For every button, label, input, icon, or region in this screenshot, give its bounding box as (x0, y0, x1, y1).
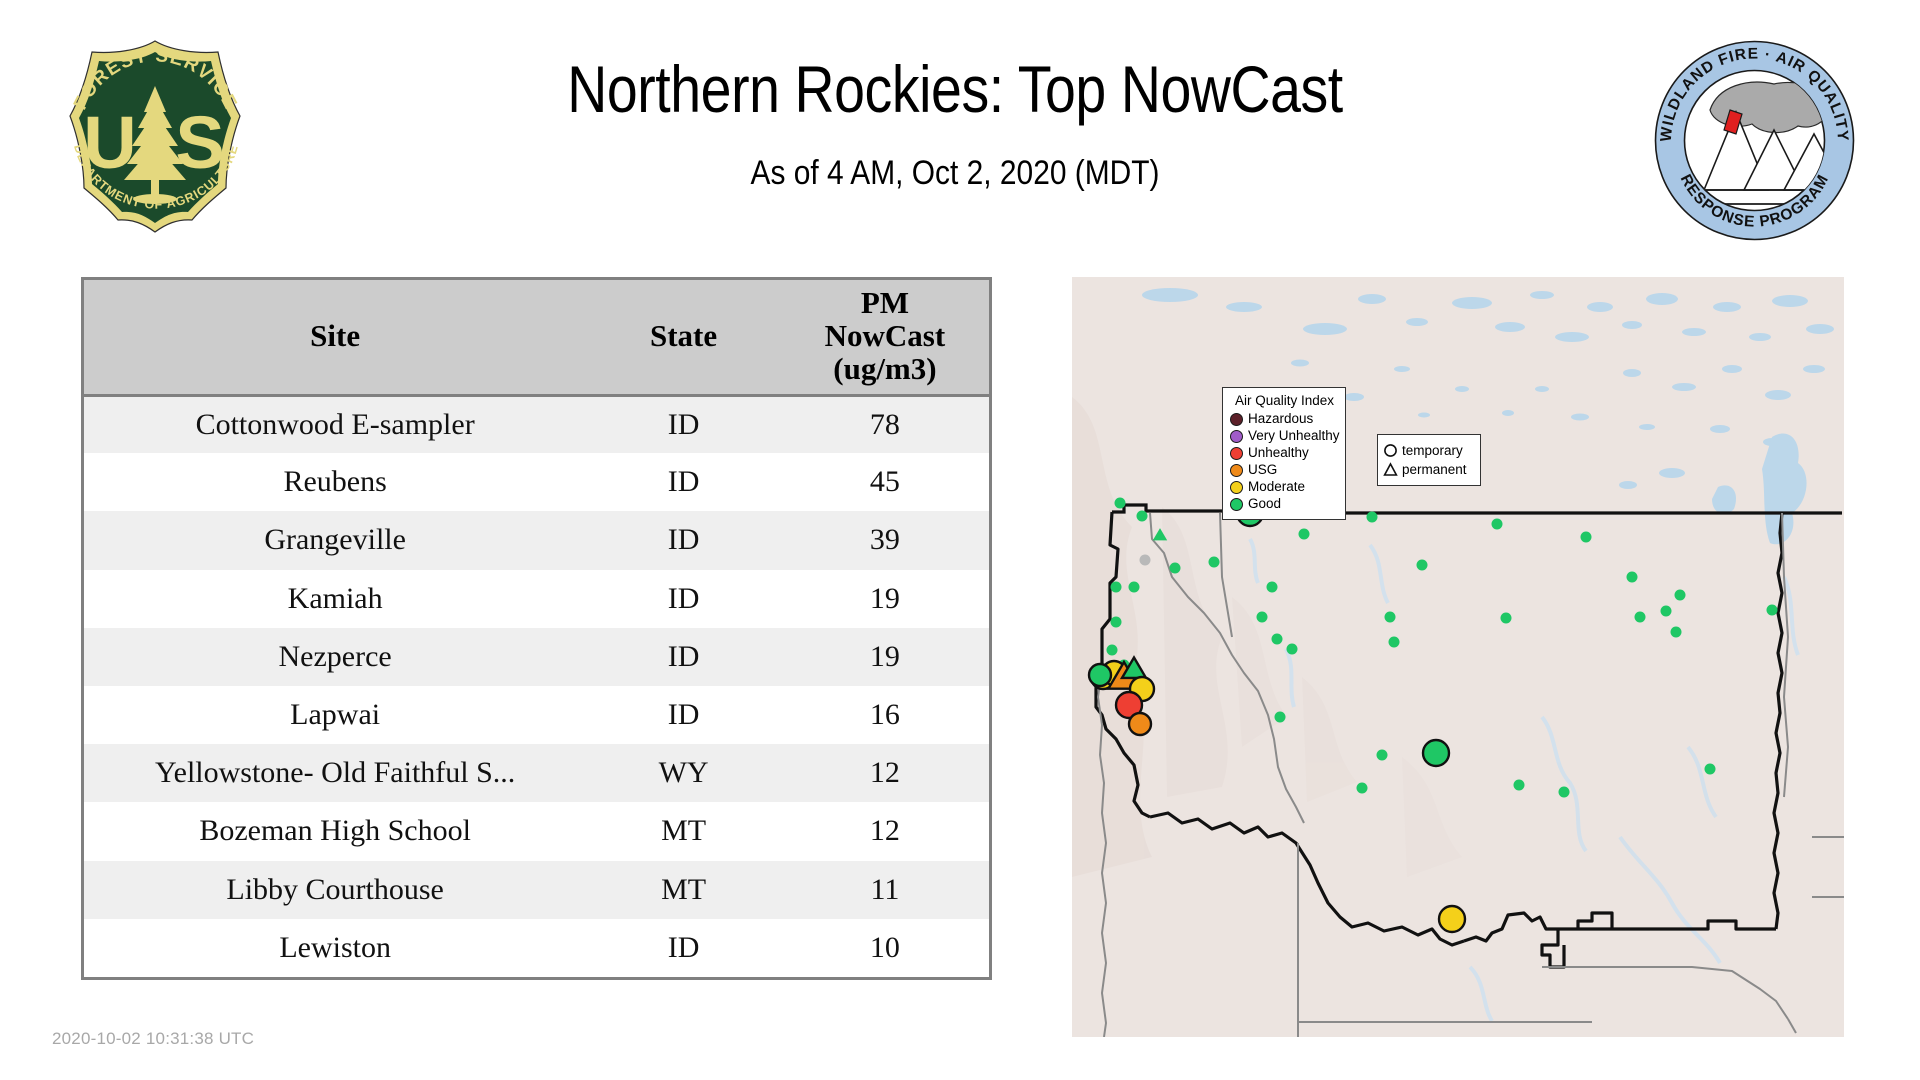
table-header: Site State PM NowCast (ug/m3) (84, 280, 989, 395)
site-cell: Yellowstone- Old Faithful S... (84, 744, 586, 802)
site-cell: Lewiston (84, 919, 586, 977)
column-header-state: State (586, 280, 781, 395)
site-cell: Cottonwood E-sampler (84, 395, 586, 453)
symbol-legend-label-temporary: temporary (1402, 444, 1463, 458)
aqi-legend-label: Very Unhealthy (1248, 429, 1340, 443)
monitor-marker-temporary[interactable] (1671, 627, 1682, 638)
monitor-marker-temporary[interactable] (1385, 612, 1396, 623)
air-quality-map[interactable]: Air Quality Index HazardousVery Unhealth… (1072, 277, 1844, 1037)
monitor-marker-temporary[interactable] (1107, 645, 1118, 656)
monitor-marker-temporary[interactable] (1439, 906, 1465, 932)
aqi-legend-label: Hazardous (1248, 412, 1313, 426)
monitor-marker-temporary[interactable] (1257, 612, 1268, 623)
monitor-marker-temporary[interactable] (1514, 780, 1525, 791)
aqi-legend-swatch (1230, 498, 1243, 511)
title-block: Northern Rockies: Top NowCast As of 4 AM… (290, 55, 1620, 193)
triangle-marker-icon (1383, 462, 1398, 477)
monitor-marker-temporary[interactable] (1501, 613, 1512, 624)
pm-header-line-2: NowCast (781, 320, 989, 353)
monitor-marker-temporary[interactable] (1111, 582, 1122, 593)
aqi-legend-label: USG (1248, 463, 1277, 477)
table-row[interactable]: Cottonwood E-samplerID78 (84, 395, 989, 453)
monitor-marker-temporary[interactable] (1705, 764, 1716, 775)
monitor-marker-temporary[interactable] (1635, 612, 1646, 623)
state-cell: ID (586, 395, 781, 453)
pm-cell: 19 (781, 570, 989, 628)
pm-cell: 16 (781, 686, 989, 744)
aqi-legend: Air Quality Index HazardousVery Unhealth… (1222, 387, 1346, 520)
aqi-legend-item: Moderate (1230, 479, 1339, 496)
table-row[interactable]: LewistonID10 (84, 919, 989, 977)
monitor-marker-temporary[interactable] (1675, 590, 1686, 601)
pm-cell: 19 (781, 628, 989, 686)
monitor-marker-temporary[interactable] (1287, 644, 1298, 655)
monitor-marker-temporary[interactable] (1492, 519, 1503, 530)
state-cell: MT (586, 802, 781, 860)
state-cell: ID (586, 686, 781, 744)
aqi-legend-item: Very Unhealthy (1230, 428, 1339, 445)
map-canvas (1072, 277, 1844, 1037)
table-row[interactable]: GrangevilleID39 (84, 511, 989, 569)
monitor-marker-temporary[interactable] (1089, 664, 1111, 686)
aqi-legend-swatch (1230, 430, 1243, 443)
column-header-pm-nowcast: PM NowCast (ug/m3) (781, 280, 989, 395)
monitor-marker-temporary[interactable] (1661, 606, 1672, 617)
aqi-legend-swatch (1230, 447, 1243, 460)
monitor-marker-temporary[interactable] (1140, 555, 1151, 566)
monitor-marker-temporary[interactable] (1581, 532, 1592, 543)
nowcast-table-container: Site State PM NowCast (ug/m3) Cottonwood… (81, 277, 992, 980)
site-cell: Kamiah (84, 570, 586, 628)
pm-cell: 12 (781, 802, 989, 860)
pm-header-line-3: (ug/m3) (781, 353, 989, 386)
state-cell: MT (586, 861, 781, 919)
usfs-forest-service-logo: FOREST SERVICE DEPARTMENT OF AGRICULTURE… (48, 28, 263, 243)
aqi-legend-rows: HazardousVery UnhealthyUnhealthyUSGModer… (1230, 411, 1339, 513)
aqi-legend-label: Moderate (1248, 480, 1305, 494)
pm-cell: 12 (781, 744, 989, 802)
page-title: Northern Rockies: Top NowCast (396, 55, 1513, 124)
site-cell: Grangeville (84, 511, 586, 569)
monitor-marker-temporary[interactable] (1627, 572, 1638, 583)
aqi-legend-item: Good (1230, 496, 1339, 513)
symbol-legend-row-temporary: temporary (1383, 441, 1474, 460)
site-cell: Bozeman High School (84, 802, 586, 860)
monitor-marker-temporary[interactable] (1137, 511, 1148, 522)
monitor-marker-temporary[interactable] (1129, 582, 1140, 593)
monitor-marker-temporary[interactable] (1377, 750, 1388, 761)
column-header-site: Site (84, 280, 586, 395)
state-cell: ID (586, 628, 781, 686)
usfs-letter-u: U (83, 101, 136, 184)
table-row[interactable]: KamiahID19 (84, 570, 989, 628)
wfaqrp-logo: WILDLAND FIRE · AIR QUALITY RESPONSE PRO… (1652, 38, 1857, 243)
monitor-marker-temporary[interactable] (1170, 563, 1181, 574)
pm-cell: 45 (781, 453, 989, 511)
site-cell: Nezperce (84, 628, 586, 686)
page-subtitle: As of 4 AM, Oct 2, 2020 (MDT) (370, 154, 1540, 193)
monitor-marker-temporary[interactable] (1417, 560, 1428, 571)
state-cell: ID (586, 511, 781, 569)
aqi-legend-item: Unhealthy (1230, 445, 1339, 462)
monitor-marker-temporary[interactable] (1209, 557, 1220, 568)
table-row[interactable]: NezperceID19 (84, 628, 989, 686)
monitor-marker-temporary[interactable] (1129, 713, 1151, 735)
monitor-marker-temporary[interactable] (1272, 634, 1283, 645)
table-header-row: Site State PM NowCast (ug/m3) (84, 280, 989, 395)
aqi-legend-swatch (1230, 464, 1243, 477)
aqi-legend-swatch (1230, 481, 1243, 494)
table-body: Cottonwood E-samplerID78ReubensID45Grang… (84, 395, 989, 977)
monitor-marker-temporary[interactable] (1111, 617, 1122, 628)
monitor-marker-temporary[interactable] (1767, 605, 1778, 616)
aqi-legend-label: Unhealthy (1248, 446, 1309, 460)
monitor-marker-temporary[interactable] (1357, 783, 1368, 794)
table-row[interactable]: ReubensID45 (84, 453, 989, 511)
monitor-marker-temporary[interactable] (1115, 498, 1126, 509)
table-row[interactable]: Yellowstone- Old Faithful S...WY12 (84, 744, 989, 802)
site-cell: Lapwai (84, 686, 586, 744)
circle-marker-icon (1383, 443, 1398, 458)
pm-cell: 39 (781, 511, 989, 569)
site-cell: Reubens (84, 453, 586, 511)
site-cell: Libby Courthouse (84, 861, 586, 919)
aqi-legend-item: Hazardous (1230, 411, 1339, 428)
footer-timestamp: 2020-10-02 10:31:38 UTC (52, 1029, 254, 1049)
pm-cell: 78 (781, 395, 989, 453)
aqi-legend-title: Air Quality Index (1230, 393, 1339, 409)
table-row[interactable]: LapwaiID16 (84, 686, 989, 744)
state-cell: ID (586, 570, 781, 628)
nowcast-table: Site State PM NowCast (ug/m3) Cottonwood… (84, 280, 989, 977)
usfs-letter-s: S (175, 101, 224, 184)
monitor-marker-temporary[interactable] (1423, 740, 1449, 766)
state-cell: ID (586, 453, 781, 511)
pm-header-line-1: PM (781, 287, 989, 320)
monitor-marker-temporary[interactable] (1275, 712, 1286, 723)
aqi-legend-swatch (1230, 413, 1243, 426)
table-row[interactable]: Bozeman High SchoolMT12 (84, 802, 989, 860)
slide-canvas: FOREST SERVICE DEPARTMENT OF AGRICULTURE… (0, 0, 1920, 1080)
aqi-legend-label: Good (1248, 497, 1281, 511)
monitor-marker-temporary[interactable] (1299, 529, 1310, 540)
state-cell: WY (586, 744, 781, 802)
monitor-marker-temporary[interactable] (1389, 637, 1400, 648)
monitor-marker-temporary[interactable] (1267, 582, 1278, 593)
pm-cell: 11 (781, 861, 989, 919)
symbol-legend-row-permanent: permanent (1383, 460, 1474, 479)
symbol-legend-label-permanent: permanent (1402, 463, 1467, 477)
symbol-legend: temporary permanent (1377, 434, 1481, 486)
monitor-marker-temporary[interactable] (1367, 512, 1378, 523)
pm-cell: 10 (781, 919, 989, 977)
state-cell: ID (586, 919, 781, 977)
aqi-legend-item: USG (1230, 462, 1339, 479)
monitor-marker-temporary[interactable] (1559, 787, 1570, 798)
table-row[interactable]: Libby CourthouseMT11 (84, 861, 989, 919)
